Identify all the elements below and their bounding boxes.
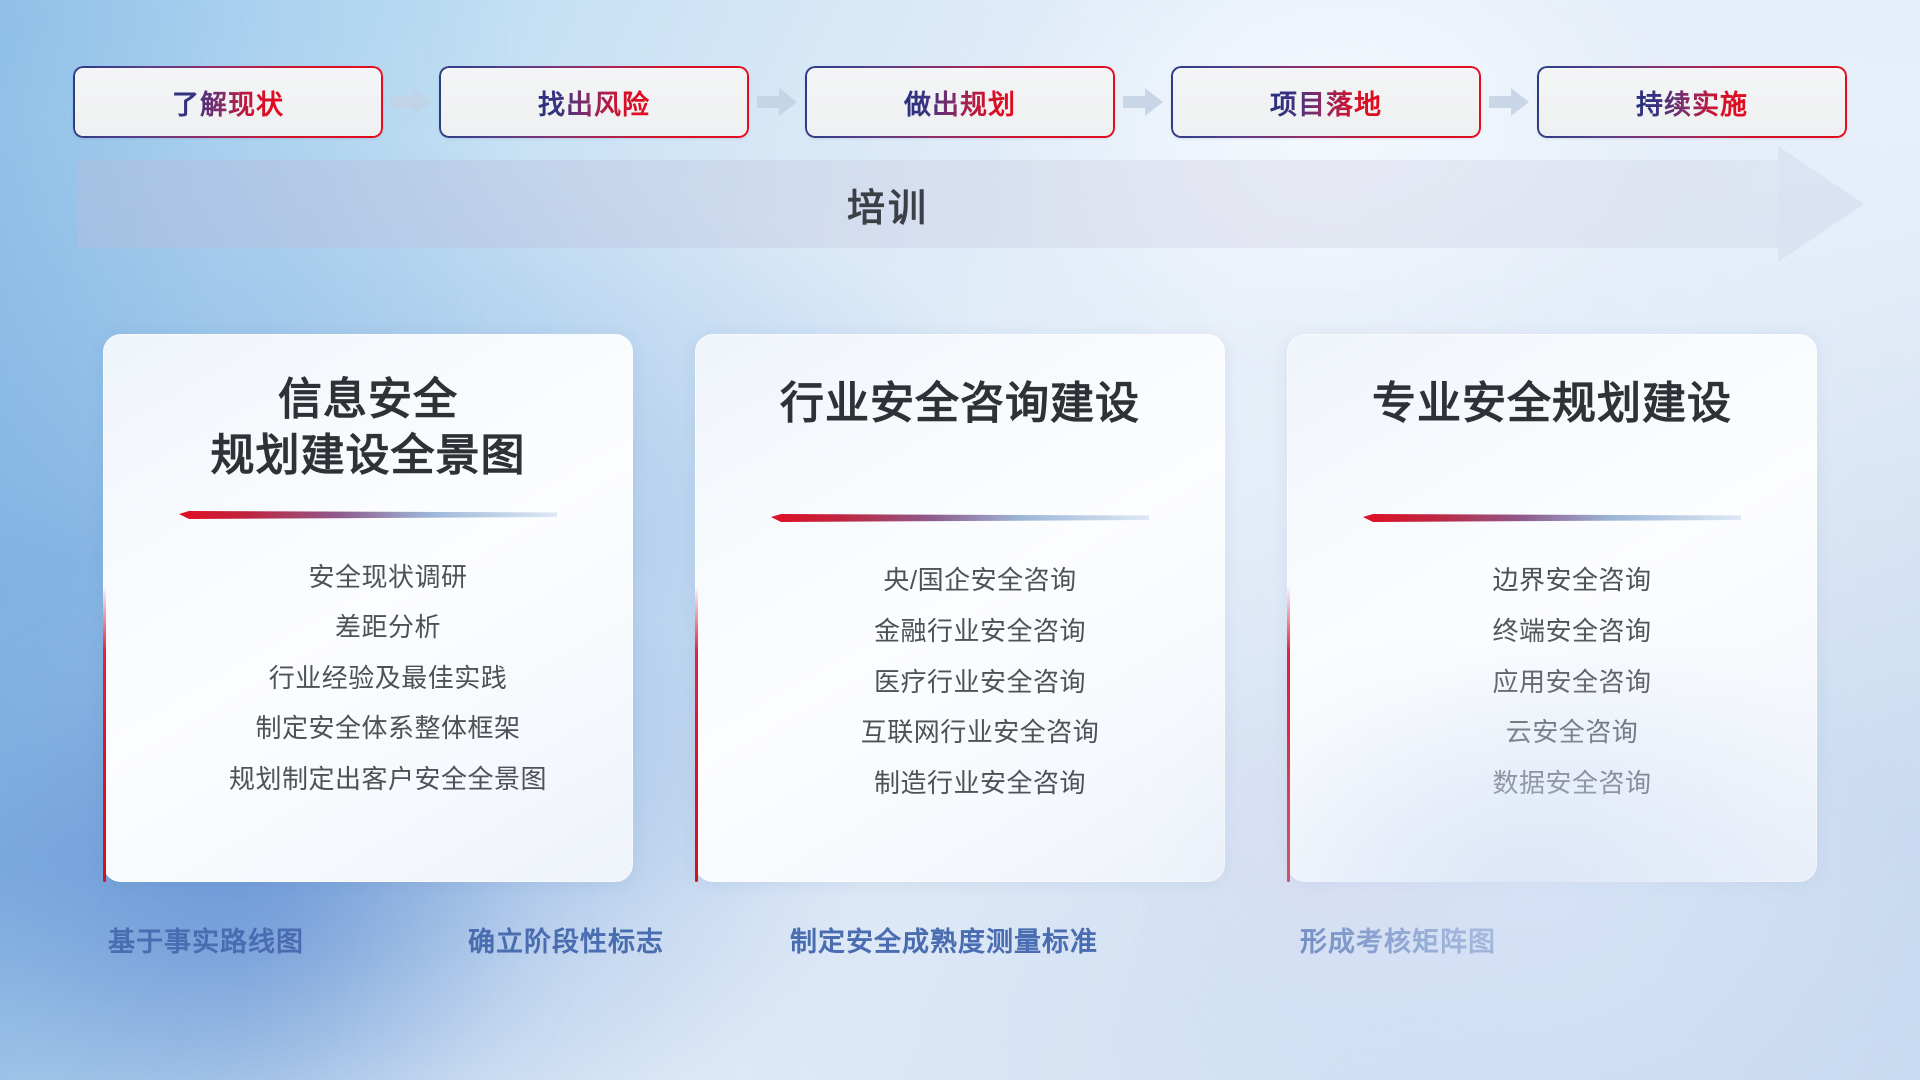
step-connector-2: [749, 66, 805, 138]
process-step-label: 找出风险: [538, 83, 650, 122]
card-list-item: 金融行业安全咨询: [874, 611, 1086, 653]
card-title: 行业安全咨询建设: [780, 376, 1140, 432]
background-glow-right: [1114, 660, 1634, 1040]
training-banner: 培训: [78, 160, 1858, 248]
card-professional-security-planning[interactable]: 专业安全规划建设: [1287, 334, 1817, 882]
card-industry-security-consulting[interactable]: 行业安全咨询建设: [695, 334, 1225, 882]
card-divider: [179, 511, 557, 523]
card-list-item: 互联网行业安全咨询: [861, 712, 1100, 754]
arrow-right-icon: [757, 87, 797, 117]
arrow-right-icon: [391, 87, 431, 117]
card-item-list: 央/国企安全咨询 金融行业安全咨询 医疗行业安全咨询 互联网行业安全咨询 制造行…: [821, 560, 1100, 804]
arrow-right-icon: [1489, 87, 1529, 117]
card-list-item: 制定安全体系整体框架: [255, 708, 520, 750]
step-connector-1: [383, 66, 439, 138]
card-item-list: 边界安全咨询 终端安全咨询 应用安全咨询 云安全咨询 数据安全咨询: [1452, 560, 1651, 804]
card-list-item: 医疗行业安全咨询: [874, 662, 1086, 704]
card-divider: [771, 514, 1149, 526]
banner-title: 培训: [78, 160, 1698, 248]
card-list-item: 安全现状调研: [308, 557, 467, 599]
slide-canvas: 了解现状 找出风险 做出规划 项目落地: [0, 0, 1920, 1080]
process-step-2[interactable]: 找出风险: [439, 66, 749, 138]
process-step-3[interactable]: 做出规划: [805, 66, 1115, 138]
card-divider: [1363, 514, 1741, 526]
process-step-label: 了解现状: [172, 83, 284, 122]
card-list-item: 央/国企安全咨询: [883, 560, 1076, 602]
banner-arrow-head-icon: [1778, 146, 1864, 262]
process-step-label: 持续实施: [1636, 83, 1748, 122]
card-item-list: 安全现状调研 差距分析 行业经验及最佳实践 制定安全体系整体框架 规划制定出客户…: [189, 557, 547, 801]
footer-label: 确立阶段性标志: [468, 920, 664, 959]
card-list-item: 行业经验及最佳实践: [269, 658, 508, 700]
card-list-item: 应用安全咨询: [1492, 662, 1651, 704]
card-list-item: 数据安全咨询: [1492, 763, 1651, 805]
card-list-item: 规划制定出客户安全全景图: [229, 759, 547, 801]
card-list-item: 终端安全咨询: [1492, 611, 1651, 653]
card-list-item: 边界安全咨询: [1492, 560, 1651, 602]
process-step-label: 做出规划: [904, 83, 1016, 122]
card-list-item: 差距分析: [335, 607, 441, 649]
step-connector-3: [1115, 66, 1171, 138]
card-list-item: 云安全咨询: [1506, 712, 1639, 754]
card-list-item: 制造行业安全咨询: [874, 763, 1086, 805]
process-step-5[interactable]: 持续实施: [1537, 66, 1847, 138]
footer-label-row: 基于事实路线图 确立阶段性标志 制定安全成熟度测量标准 形成考核矩阵图: [0, 920, 1920, 970]
footer-label: 基于事实路线图: [108, 920, 304, 959]
arrow-right-icon: [1123, 87, 1163, 117]
step-connector-4: [1481, 66, 1537, 138]
process-step-4[interactable]: 项目落地: [1171, 66, 1481, 138]
card-row: 信息安全 规划建设全景图: [0, 334, 1920, 882]
process-step-label: 项目落地: [1270, 83, 1382, 122]
card-title: 专业安全规划建设: [1372, 376, 1732, 432]
card-title: 信息安全 规划建设全景图: [211, 372, 526, 485]
footer-label: 形成考核矩阵图: [1300, 920, 1496, 959]
process-step-row: 了解现状 找出风险 做出规划 项目落地: [0, 64, 1920, 140]
process-step-1[interactable]: 了解现状: [73, 66, 383, 138]
card-accent-bar: [1287, 586, 1290, 882]
footer-label: 制定安全成熟度测量标准: [790, 920, 1098, 959]
card-information-security-blueprint[interactable]: 信息安全 规划建设全景图: [103, 334, 633, 882]
